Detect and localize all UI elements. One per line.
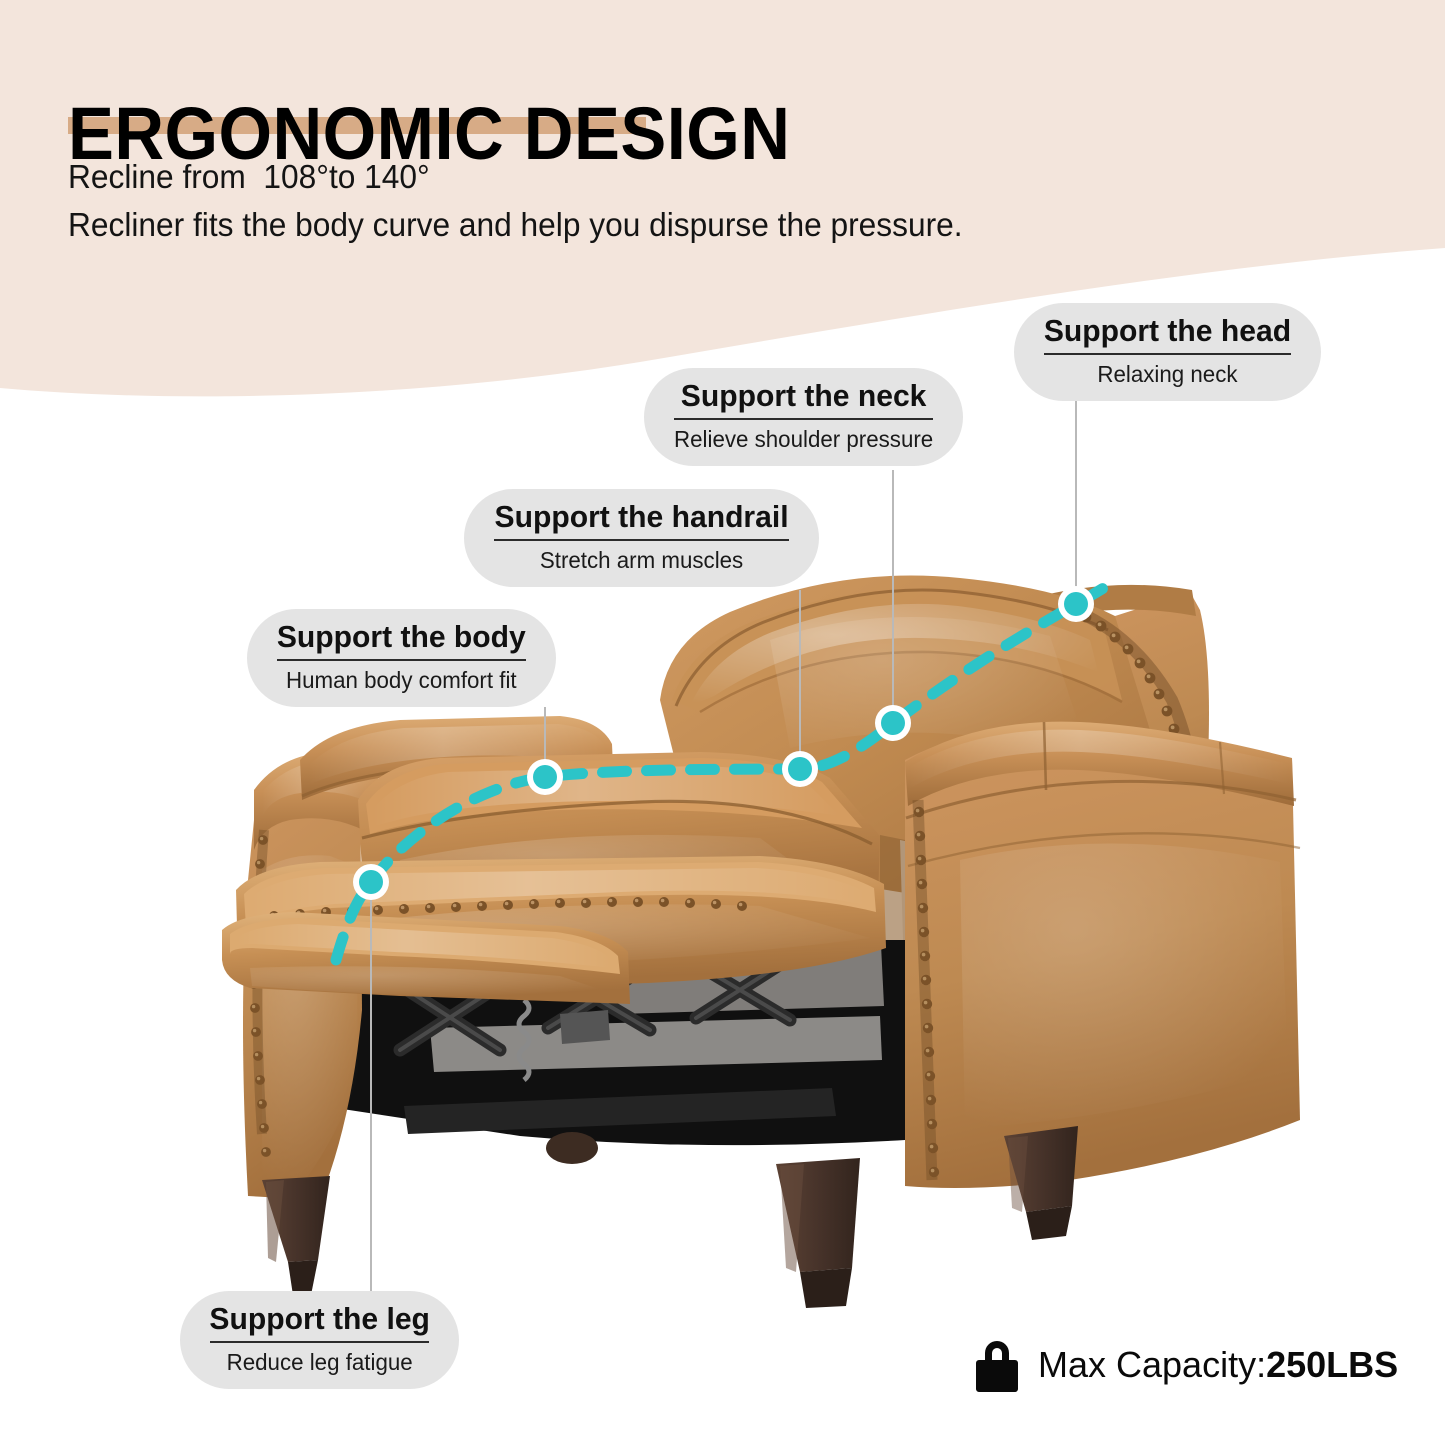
callout-leg-rule	[210, 1341, 429, 1343]
callout-body-subtitle: Human body comfort fit	[277, 666, 526, 694]
callout-head-rule	[1044, 353, 1291, 355]
callout-leg-title: Support the leg	[209, 1300, 430, 1338]
chair-right-side-panel	[905, 722, 1300, 1188]
chair-leg-front-right	[776, 1158, 860, 1308]
header-description-text: Recliner fits the body curve and help yo…	[68, 205, 963, 245]
lock-icon	[972, 1336, 1022, 1394]
callout-handrail-subtitle: Stretch arm muscles	[495, 546, 789, 574]
callout-body-rule	[277, 659, 526, 661]
callout-body-title: Support the body	[277, 618, 526, 656]
recline-range-text: Recline from 108°to 140°	[68, 157, 430, 197]
callout-head-title: Support the head	[1044, 312, 1291, 350]
max-capacity-text: Max Capacity:250LBS	[1038, 1343, 1398, 1387]
chair-leg-front-left	[262, 1176, 330, 1302]
callout-head[interactable]: Support the head Relaxing neck	[1014, 303, 1321, 401]
callout-neck-rule	[674, 418, 933, 420]
callout-neck[interactable]: Support the neck Relieve shoulder pressu…	[644, 368, 963, 466]
callout-handrail-title: Support the handrail	[495, 498, 789, 536]
callout-handrail[interactable]: Support the handrail Stretch arm muscles	[464, 489, 819, 587]
chair-leg-rear-right	[1004, 1126, 1078, 1240]
callout-head-subtitle: Relaxing neck	[1044, 360, 1291, 388]
callout-handrail-rule	[494, 539, 789, 541]
callout-leg-subtitle: Reduce leg fatigue	[209, 1348, 430, 1376]
callout-leg[interactable]: Support the leg Reduce leg fatigue	[180, 1291, 459, 1389]
callout-body[interactable]: Support the body Human body comfort fit	[247, 609, 556, 707]
callout-neck-title: Support the neck	[674, 377, 933, 415]
max-capacity-badge: Max Capacity:250LBS	[972, 1336, 1398, 1394]
infographic-page: ERGONOMIC DESIGN Recline from 108°to 140…	[0, 0, 1445, 1445]
callout-neck-subtitle: Relieve shoulder pressure	[674, 425, 933, 453]
max-capacity-value: 250LBS	[1266, 1344, 1398, 1385]
max-capacity-label: Max Capacity:	[1038, 1344, 1266, 1385]
